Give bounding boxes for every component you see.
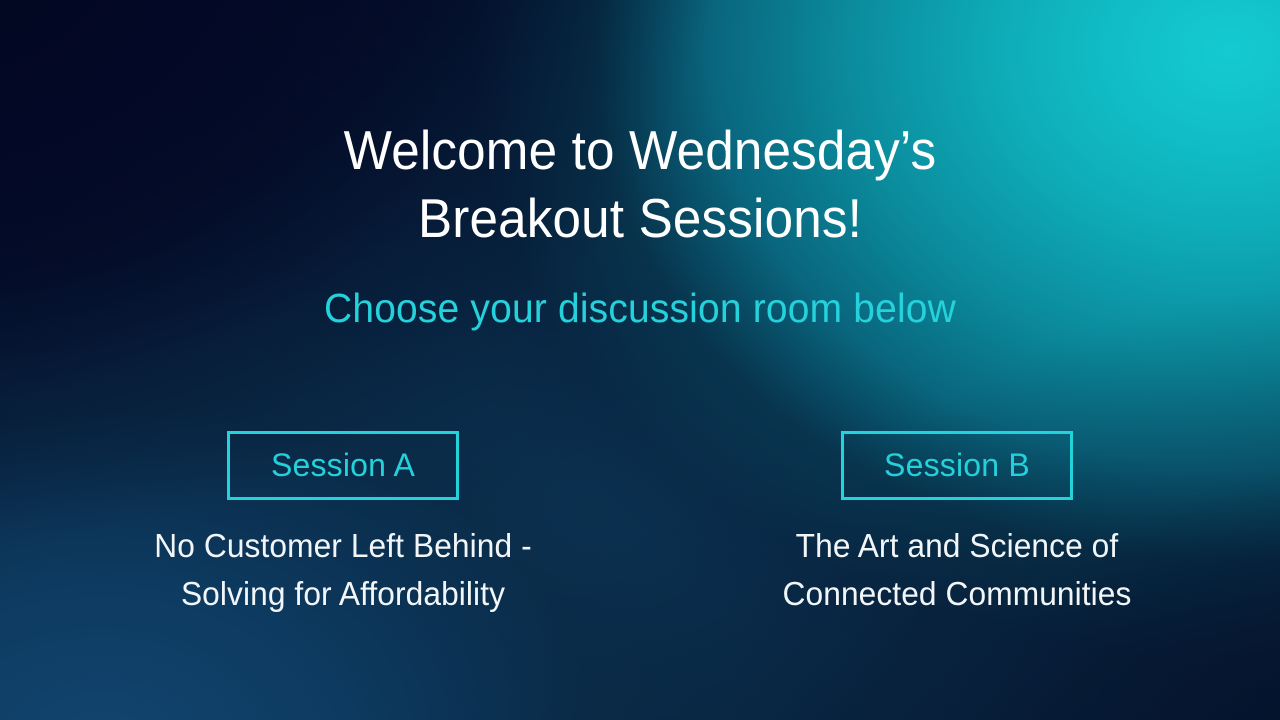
session-a-caption-line-2: Solving for Affordability xyxy=(60,570,626,618)
session-b-button[interactable]: Session B xyxy=(841,431,1073,500)
page-subtitle: Choose your discussion room below xyxy=(32,281,1248,335)
presentation-slide: Welcome to Wednesday’s Breakout Sessions… xyxy=(0,0,1280,720)
session-b-button-label: Session B xyxy=(884,448,1030,482)
session-b-caption-line-1: The Art and Science of xyxy=(674,522,1240,570)
session-b-caption-line-2: Connected Communities xyxy=(674,570,1240,618)
page-title-line-1: Welcome to Wednesday’s xyxy=(45,116,1235,184)
page-title: Welcome to Wednesday’s Breakout Sessions… xyxy=(0,116,1280,252)
session-a-button[interactable]: Session A xyxy=(227,431,459,500)
session-a-caption: No Customer Left Behind - Solving for Af… xyxy=(48,522,638,618)
session-a-button-label: Session A xyxy=(271,448,415,482)
session-a-caption-line-1: No Customer Left Behind - xyxy=(60,522,626,570)
session-column-b: Session B The Art and Science of Connect… xyxy=(662,431,1252,618)
session-column-a: Session A No Customer Left Behind - Solv… xyxy=(48,431,638,618)
page-title-line-2: Breakout Sessions! xyxy=(45,184,1235,252)
session-b-caption: The Art and Science of Connected Communi… xyxy=(662,522,1252,618)
